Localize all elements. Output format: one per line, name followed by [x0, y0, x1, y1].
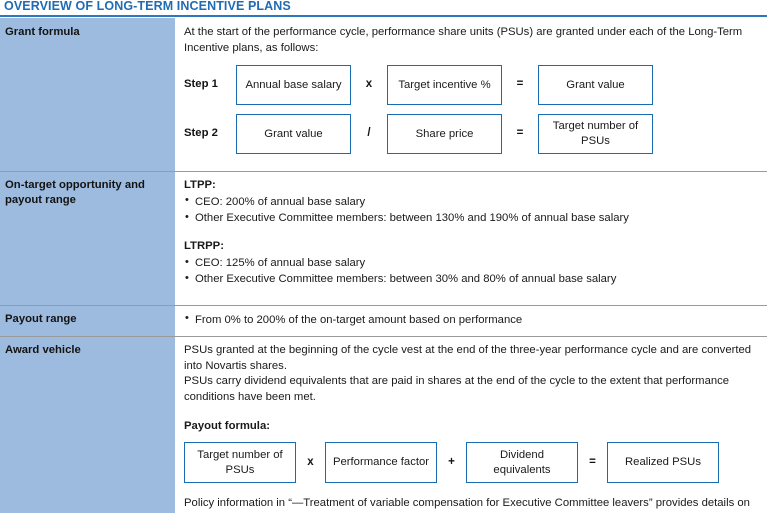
payout-range-bullet-list: From 0% to 200% of the on-target amount … [184, 312, 759, 328]
step-2-operator-2: = [502, 126, 538, 142]
step-2-result: Target number of PSUs [538, 114, 653, 154]
incentive-plan-table: Grant formula At the start of the perfor… [0, 18, 767, 513]
award-vehicle-footnote: Policy information in “—Treatment of var… [184, 496, 759, 513]
payout-operator-2: + [437, 455, 466, 471]
step-1-label: Step 1 [184, 77, 236, 93]
list-item: Other Executive Committee members: betwe… [184, 210, 759, 226]
payout-operator-1: x [296, 455, 325, 471]
award-vehicle-paragraph-2: PSUs carry dividend equivalents that are… [184, 374, 759, 405]
list-item: From 0% to 200% of the on-target amount … [184, 312, 759, 328]
spacer [184, 406, 759, 419]
row-label-payout-range: Payout range [0, 305, 175, 336]
step-2-operand-1: Grant value [236, 114, 351, 154]
row-label-grant-formula: Grant formula [0, 18, 175, 171]
step-1-operand-1: Annual base salary [236, 65, 351, 105]
step-2-label: Step 2 [184, 126, 236, 142]
payout-result: Realized PSUs [607, 442, 719, 483]
payout-operand-3: Dividend equivalents [466, 442, 578, 483]
title-divider [0, 15, 767, 17]
ltpp-bullet-list: CEO: 200% of annual base salary Other Ex… [184, 194, 759, 227]
row-label-award-vehicle: Award vehicle [0, 336, 175, 513]
row-body-payout-range: From 0% to 200% of the on-target amount … [175, 305, 767, 336]
payout-operator-3: = [578, 455, 607, 471]
payout-operand-2: Performance factor [325, 442, 437, 483]
payout-formula-row: Target number of PSUs x Performance fact… [184, 442, 759, 483]
list-item: CEO: 200% of annual base salary [184, 194, 759, 210]
spacer [184, 483, 759, 496]
table-row-award-vehicle: Award vehicle PSUs granted at the beginn… [0, 336, 767, 513]
payout-formula-heading: Payout formula: [184, 419, 759, 435]
formula-row-step-1: Step 1 Annual base salary x Target incen… [184, 65, 759, 105]
formula-row-step-2: Step 2 Grant value / Share price = Targe… [184, 114, 759, 154]
step-2-operand-2: Share price [387, 114, 502, 154]
row-body-award-vehicle: PSUs granted at the beginning of the cyc… [175, 336, 767, 513]
row-body-on-target-opportunity: LTPP: CEO: 200% of annual base salary Ot… [175, 171, 767, 305]
spacer [184, 154, 759, 163]
award-vehicle-paragraph-1: PSUs granted at the beginning of the cyc… [184, 343, 759, 374]
table-row-grant-formula: Grant formula At the start of the perfor… [0, 18, 767, 171]
list-item: CEO: 125% of annual base salary [184, 255, 759, 271]
list-item: Other Executive Committee members: betwe… [184, 271, 759, 287]
grant-formula-intro: At the start of the performance cycle, p… [184, 25, 759, 56]
step-1-result: Grant value [538, 65, 653, 105]
step-1-operator-1: x [351, 77, 387, 93]
table-row-on-target-opportunity: On-target opportunity and payout range L… [0, 171, 767, 305]
ltrpp-heading: LTRPP: [184, 239, 759, 255]
ltrpp-bullet-list: CEO: 125% of annual base salary Other Ex… [184, 255, 759, 288]
spacer [184, 226, 759, 239]
document-page: OVERVIEW OF LONG-TERM INCENTIVE PLANS Gr… [0, 0, 767, 513]
step-1-operand-2: Target incentive % [387, 65, 502, 105]
row-body-grant-formula: At the start of the performance cycle, p… [175, 18, 767, 171]
step-1-operator-2: = [502, 77, 538, 93]
table-row-payout-range: Payout range From 0% to 200% of the on-t… [0, 305, 767, 336]
page-title: OVERVIEW OF LONG-TERM INCENTIVE PLANS [4, 0, 291, 13]
step-2-operator-1: / [351, 126, 387, 142]
spacer [184, 288, 759, 297]
ltpp-heading: LTPP: [184, 178, 759, 194]
document-header: OVERVIEW OF LONG-TERM INCENTIVE PLANS [0, 0, 767, 18]
payout-operand-1: Target number of PSUs [184, 442, 296, 483]
row-label-on-target-opportunity: On-target opportunity and payout range [0, 171, 175, 305]
